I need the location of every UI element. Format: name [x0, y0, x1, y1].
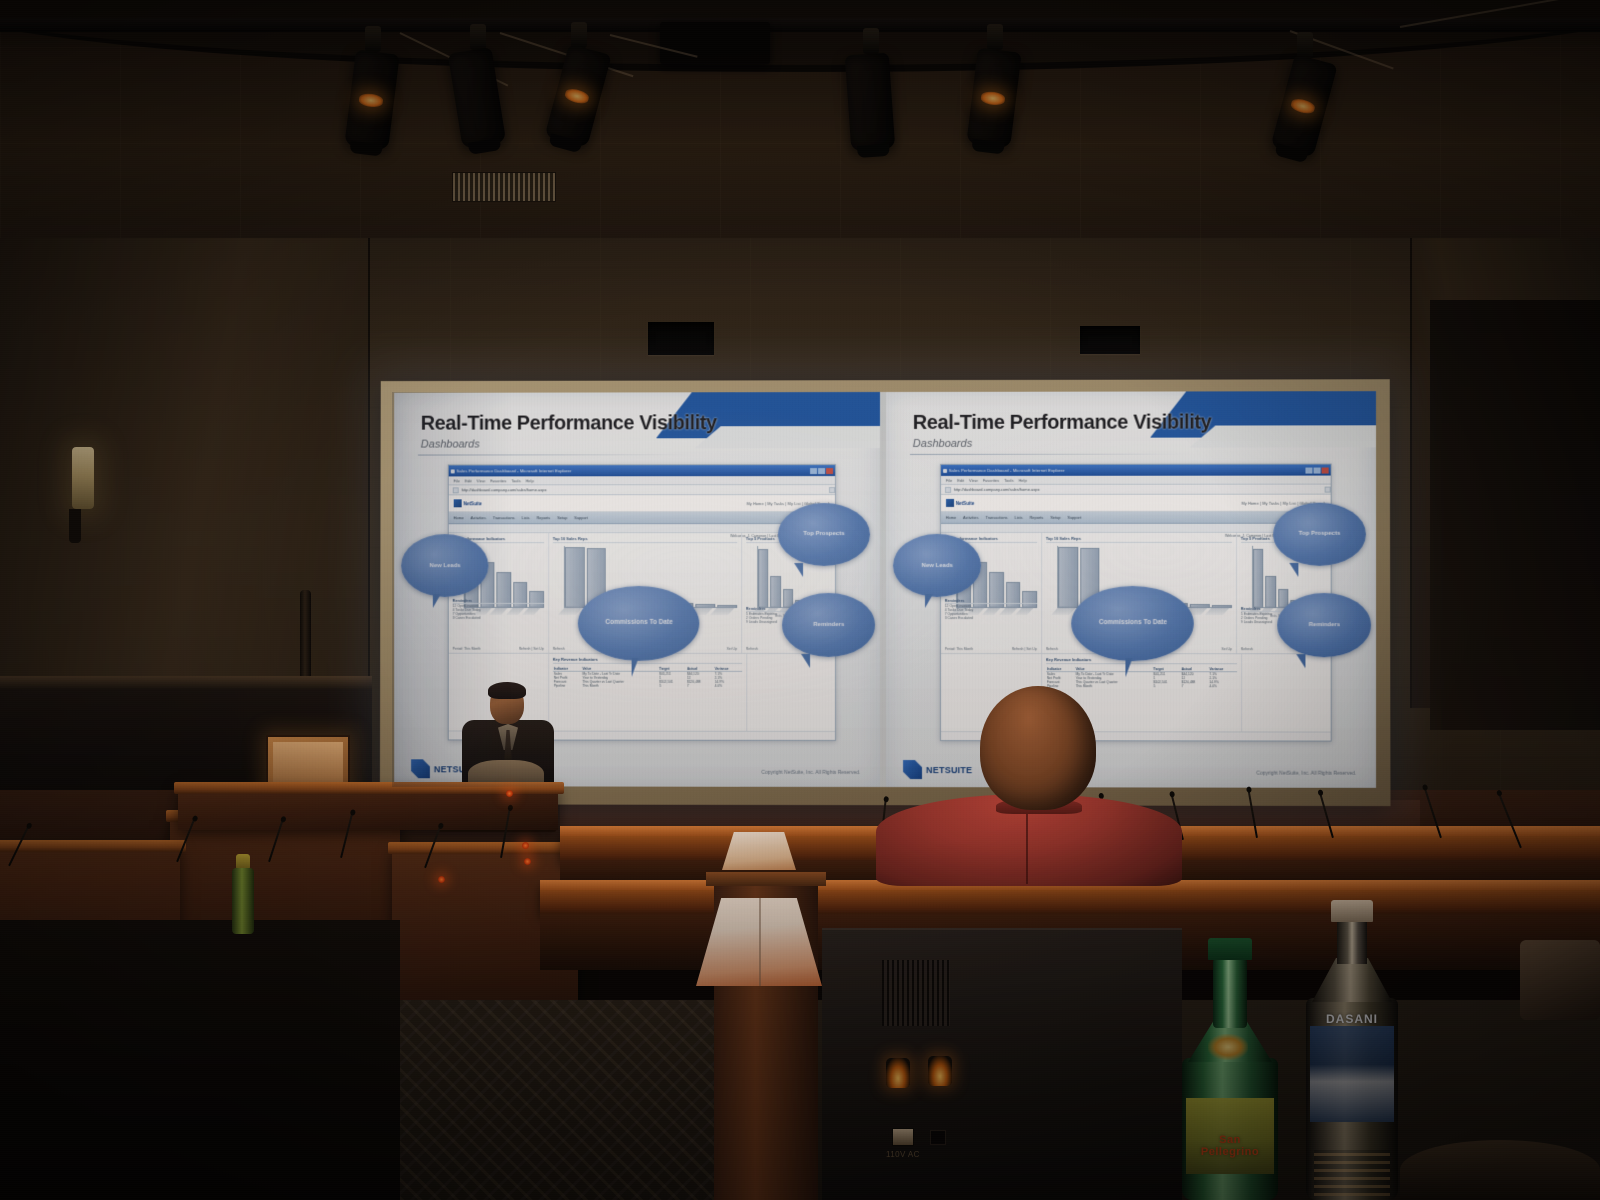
cabinet-vent-grille [882, 960, 950, 1026]
attendee-shirt-seam [1026, 814, 1028, 884]
callout-top-prospects: Top Prospects [778, 503, 871, 566]
netsuite-logo-icon [411, 759, 430, 778]
callout-new-leads: New Leads [401, 534, 488, 597]
tab-activities[interactable]: Activities [471, 515, 486, 520]
bottle-cap [1208, 938, 1252, 960]
callout-commissions-to-date: Commissions To Date [1072, 586, 1195, 661]
slide-subtitle: Dashboards [913, 438, 972, 450]
app-nav-tabs: Home Activities Transactions Lists Repor… [448, 512, 835, 524]
bottle-label [1310, 1026, 1395, 1122]
top-reps-header: Top 10 Sales Reps [1046, 536, 1232, 543]
cell-value: This Month [581, 684, 658, 688]
ceiling-air-vent [452, 172, 556, 202]
tab-support[interactable]: Support [1068, 515, 1082, 520]
app-name: NetSuite [463, 501, 482, 506]
kpi-reminders-list: Reminders 12 Open Invoices 4 Tasks Due T… [452, 599, 543, 620]
bottle-body [232, 868, 254, 934]
foreground-chair-back [1400, 1140, 1600, 1200]
stage-light-4[interactable] [848, 28, 894, 150]
cabinet-faceplate [892, 1128, 914, 1146]
bottle-highlight [1208, 1034, 1248, 1060]
app-nav-tabs: Home Activities Transactions Lists Repor… [941, 512, 1331, 524]
browser-window-title: Sales Performance Dashboard - Microsoft … [949, 468, 1304, 473]
bottle-label-text: San Pellegrino [1192, 1134, 1269, 1158]
cell-actual: 7 [686, 684, 714, 688]
slide-title: Real-Time Performance Visibility [913, 411, 1212, 434]
callout-reminders: Reminders [783, 593, 876, 656]
cell-variance: 4.0% [714, 684, 742, 688]
browser-menubar: File Edit View Favorites Tools Help [448, 476, 835, 485]
ceiling-duct [660, 22, 770, 64]
bottle-neck [1213, 958, 1247, 1028]
table-row[interactable]: Pipeline This Month 5 7 4.0% [553, 684, 742, 688]
desk-top-surface [388, 842, 584, 854]
mic-indicator-light [524, 858, 531, 865]
av-equipment-cabinet: 110V AC [822, 928, 1182, 1200]
stage-light-5[interactable] [972, 24, 1018, 146]
bottle-cap [1331, 900, 1373, 922]
bottom-side-panel [746, 654, 835, 740]
address-input[interactable]: http://dashboard.company.com/sales/home.… [954, 487, 1322, 492]
period-label: Period: This Month [945, 647, 973, 651]
maximize-icon[interactable] [818, 468, 825, 474]
go-icon[interactable] [829, 487, 835, 493]
menu-file[interactable]: File [946, 477, 952, 482]
clear-water-bottle: DASANI [1306, 900, 1398, 1200]
callout-reminders: Reminders [1278, 593, 1371, 656]
close-icon[interactable] [826, 468, 833, 474]
presenter-hair [488, 682, 526, 699]
lamp-finial [722, 832, 796, 870]
lighting-track [0, 18, 1600, 32]
title-divider [418, 454, 690, 455]
refresh-link[interactable]: Refresh [553, 647, 565, 651]
mic-indicator-light [522, 842, 529, 849]
refresh-link[interactable]: Refresh [746, 647, 758, 651]
app-logo: NetSuite [453, 499, 481, 507]
bar [1212, 605, 1232, 607]
bottle-neck [1337, 920, 1367, 964]
chart-y-axis [553, 546, 564, 608]
minimize-icon[interactable] [810, 468, 817, 474]
right-edge-fixture [1520, 940, 1600, 1020]
green-glass-bottle: San Pellegrino [1182, 938, 1278, 1200]
projection-booth-window [648, 322, 714, 355]
left-wall-panel [0, 238, 370, 688]
menu-help[interactable]: Help [526, 478, 534, 483]
light-yoke [987, 24, 1003, 50]
cabinet-label: 110V AC [886, 1150, 920, 1159]
key-revenue-indicators-panel: Key Revenue Indicators Indicator Value T… [549, 654, 746, 740]
tab-reports[interactable]: Reports [1030, 515, 1044, 520]
netsuite-logo-icon [453, 499, 461, 507]
close-icon[interactable] [1322, 467, 1329, 473]
address-input[interactable]: http://dashboard.company.com/sales/home.… [461, 487, 826, 492]
window-controls [1306, 467, 1329, 473]
refresh-link[interactable]: Refresh [1046, 647, 1058, 651]
bar [1190, 604, 1210, 608]
bottle-label-text: DASANI [1313, 1012, 1390, 1026]
light-yoke [470, 24, 486, 50]
light-yoke [365, 26, 381, 52]
menu-edit[interactable]: Edit [465, 478, 472, 483]
back-arrow-icon[interactable] [945, 486, 951, 492]
app-header: NetSuite My Home | My Tasks | My List | … [941, 495, 1331, 512]
menu-favorites[interactable]: Favorites [983, 477, 999, 482]
app-header: NetSuite My Home | My Tasks | My List | … [448, 495, 835, 512]
bar [1058, 547, 1078, 608]
menu-view[interactable]: View [969, 477, 978, 482]
tab-setup[interactable]: Setup [1050, 515, 1060, 520]
cell-indicator: Pipeline [553, 684, 582, 688]
newel-post-cap [706, 872, 826, 886]
tab-home[interactable]: Home [453, 515, 463, 520]
menu-help[interactable]: Help [1019, 477, 1027, 482]
go-icon[interactable] [1325, 486, 1331, 492]
minimize-icon[interactable] [1306, 467, 1313, 473]
browser-address-bar: http://dashboard.company.com/sales/home.… [448, 485, 835, 495]
menu-view[interactable]: View [477, 478, 486, 483]
bar [758, 549, 769, 608]
period-label: Period: This Month [452, 647, 480, 651]
tab-home[interactable]: Home [946, 515, 956, 520]
chart-y-axis [1046, 546, 1057, 608]
light-yoke [1297, 32, 1313, 58]
power-socket-left[interactable] [886, 1058, 910, 1088]
light-housing-icon [448, 47, 506, 149]
tab-lists[interactable]: Lists [1015, 515, 1023, 520]
light-yoke [863, 28, 879, 54]
tab-lists[interactable]: Lists [522, 515, 530, 520]
chart-y-axis [1241, 546, 1252, 608]
power-socket-right[interactable] [928, 1056, 952, 1086]
slide-title: Real-Time Performance Visibility [421, 412, 717, 435]
app-subnav: Welcome, J. Cameron | Last Login: Today … [941, 524, 1331, 533]
cell-actual: 7 [1180, 684, 1208, 688]
cell-target: 5 [658, 684, 686, 688]
desk-top-surface [0, 840, 186, 852]
attendee-head [980, 686, 1096, 810]
revenue-table: Indicator Value Target Actual Variance S… [553, 667, 742, 688]
app-logo: NetSuite [946, 499, 975, 507]
tab-transactions[interactable]: Transactions [493, 515, 515, 520]
kpi-panel-footer: Period: This Month Refresh | Set Up [945, 647, 1037, 651]
netsuite-logo-icon [946, 499, 954, 507]
app-name: NetSuite [956, 500, 975, 505]
stage-light-6[interactable] [1282, 32, 1328, 154]
bar [771, 576, 782, 608]
browser-titlebar: Sales Performance Dashboard - Microsoft … [941, 465, 1331, 476]
seated-attendee [876, 686, 1182, 886]
browser-titlebar: Sales Performance Dashboard - Microsoft … [448, 465, 835, 476]
setup-link[interactable]: Set Up [1221, 647, 1231, 651]
desk-bottle-small [232, 854, 254, 934]
cabinet-jack-port[interactable] [930, 1130, 946, 1145]
auditorium-photo: Real-Time Performance Visibility Dashboa… [0, 0, 1600, 1200]
reminder-item[interactable]: 3 Cases Escalated [945, 616, 1037, 620]
light-housing-icon [845, 53, 896, 152]
maximize-icon[interactable] [1314, 467, 1321, 473]
wall-chair-rail [0, 676, 372, 689]
menu-file[interactable]: File [453, 478, 459, 483]
kpi-reminders-list: Reminders 12 Open Invoices 4 Tasks Due T… [945, 599, 1037, 620]
tab-activities[interactable]: Activities [963, 515, 978, 520]
window-controls [810, 468, 833, 474]
stage-light-2[interactable] [455, 24, 501, 146]
chart-y-axis [746, 546, 757, 608]
slide-subtitle: Dashboards [421, 439, 480, 451]
panel-actions[interactable]: Refresh | Set Up [519, 647, 544, 651]
panel-actions[interactable]: Refresh | Set Up [1012, 647, 1037, 651]
slide-copyright: Copyright NetSuite, Inc. All Rights Rese… [761, 770, 860, 776]
app-subnav: Welcome, J. Cameron | Last Login: Today … [448, 524, 835, 533]
wall-sconce-arm [69, 509, 81, 543]
reminder-item[interactable]: 3 Cases Escalated [452, 616, 543, 620]
menu-favorites[interactable]: Favorites [490, 478, 506, 483]
browser-address-bar: http://dashboard.company.com/sales/home.… [941, 485, 1331, 495]
browser-window-title: Sales Performance Dashboard - Microsoft … [456, 468, 808, 473]
menu-edit[interactable]: Edit [957, 477, 964, 482]
tab-transactions[interactable]: Transactions [985, 515, 1007, 520]
kpi-panel-footer: Period: This Month Refresh | Set Up [452, 647, 543, 651]
refresh-link[interactable]: Refresh [1241, 647, 1253, 651]
slide-copyright: Copyright NetSuite, Inc. All Rights Rese… [1256, 771, 1356, 777]
bottom-side-panel [1241, 654, 1331, 740]
mic-indicator-light [506, 790, 513, 797]
browser-menubar: File Edit View Favorites Tools Help [941, 476, 1331, 485]
bottle-base-ridges [1314, 1150, 1390, 1196]
bottle-shoulder [1312, 958, 1392, 1002]
tab-setup[interactable]: Setup [557, 515, 567, 520]
bar [565, 547, 585, 607]
ceiling-speaker-recess [1080, 326, 1140, 354]
title-divider [910, 454, 1184, 455]
tab-support[interactable]: Support [574, 515, 588, 520]
bar [1266, 576, 1277, 608]
foreground-shadow-left [0, 920, 400, 1200]
mic-indicator-light [438, 876, 445, 883]
header-accent-band-secondary [695, 426, 880, 448]
callout-new-leads: New Leads [893, 534, 981, 597]
browser-app-icon [943, 468, 947, 472]
wall-sconce-light [72, 447, 94, 509]
stage-light-3[interactable] [556, 22, 602, 144]
bar [717, 605, 737, 607]
menu-tools[interactable]: Tools [511, 478, 520, 483]
header-accent-band-secondary [1189, 425, 1376, 447]
callout-commissions-to-date: Commissions To Date [578, 586, 699, 661]
back-arrow-icon[interactable] [452, 487, 458, 493]
menu-tools[interactable]: Tools [1004, 477, 1013, 482]
bar [1253, 549, 1264, 608]
bar [695, 604, 715, 608]
tab-reports[interactable]: Reports [537, 515, 551, 520]
stage-light-1[interactable] [350, 26, 396, 148]
right-wall-shadow [1430, 300, 1600, 730]
top-reps-header: Top 10 Sales Reps [553, 536, 737, 543]
light-housing-icon [344, 50, 399, 151]
light-housing-icon [966, 48, 1021, 149]
browser-app-icon [450, 469, 454, 473]
light-yoke [571, 22, 587, 48]
callout-top-prospects: Top Prospects [1273, 502, 1366, 565]
setup-link[interactable]: Set Up [727, 647, 737, 651]
cell-variance: 4.0% [1208, 684, 1236, 688]
